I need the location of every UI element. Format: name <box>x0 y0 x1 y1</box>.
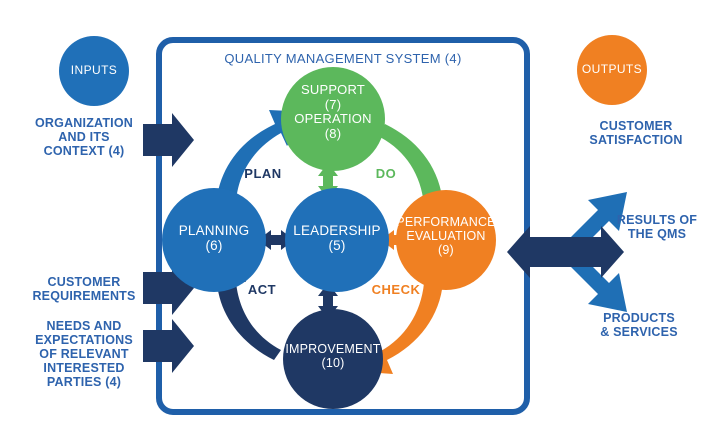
input-caption-organization-context: ORGANIZATION AND ITS CONTEXT (4) <box>14 116 154 158</box>
outputs-badge-circle <box>577 35 647 105</box>
node-circle-performance-evaluation[interactable] <box>396 190 496 290</box>
output-caption-results-of-the-qms: RESULTS OF THE QMS <box>602 213 711 241</box>
cycle-label-do: DO <box>366 167 406 182</box>
node-circle-improvement[interactable] <box>283 309 383 409</box>
qms-box-title: QUALITY MANAGEMENT SYSTEM (4) <box>159 52 527 67</box>
node-circle-leadership[interactable] <box>285 188 389 292</box>
node-circle-planning[interactable] <box>162 188 266 292</box>
output-caption-products-and-services: PRODUCTS & SERVICES <box>574 311 704 339</box>
cycle-label-plan: PLAN <box>233 167 293 182</box>
diagram-canvas: QUALITY MANAGEMENT SYSTEM (4) INPUTS ORG… <box>0 0 711 441</box>
cycle-label-act: ACT <box>237 283 287 298</box>
input-caption-customer-requirements: CUSTOMER REQUIREMENTS <box>14 275 154 303</box>
node-circle-support-operation[interactable] <box>281 67 385 171</box>
output-caption-customer-satisfaction: CUSTOMER SATISFACTION <box>566 119 706 147</box>
inputs-badge-circle <box>59 36 129 106</box>
cycle-label-check: CHECK <box>363 283 429 298</box>
input-caption-needs-expectations: NEEDS AND EXPECTATIONS OF RELEVANT INTER… <box>14 319 154 389</box>
